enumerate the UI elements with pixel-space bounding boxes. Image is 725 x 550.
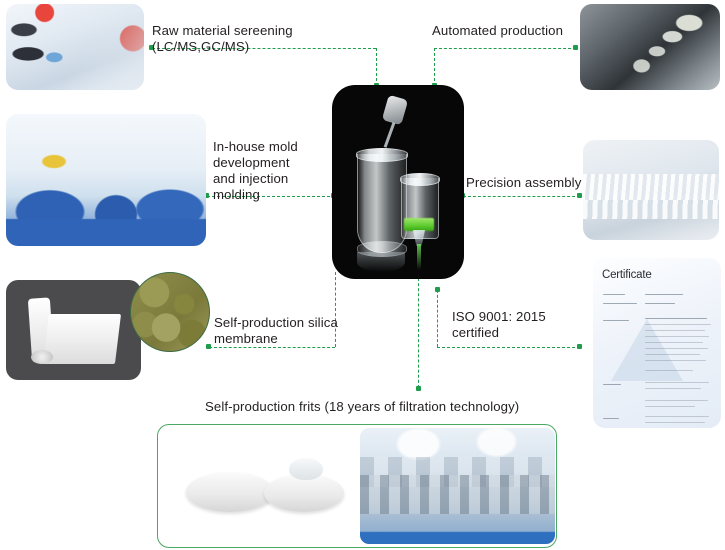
silica-membrane-band <box>404 218 434 231</box>
silica-sheet-shape <box>43 314 121 364</box>
panel-self-production-frits <box>157 424 557 548</box>
infographic-canvas: Certificate <box>0 0 725 550</box>
label-raw-material-screening: Raw material sereening (LC/MS,GC/MS) <box>152 23 392 55</box>
photo-iso-certificate: Certificate <box>593 258 721 428</box>
frit-disc-left <box>186 472 274 512</box>
nozzle-glow <box>417 244 421 270</box>
photo-automated-production <box>580 4 720 90</box>
reflection-collection-tube <box>357 252 405 272</box>
photo-raw-material-screening <box>6 4 144 90</box>
photo-frits <box>161 428 357 544</box>
label-precision-assembly: Precision assembly <box>466 175 596 191</box>
silica-microscope-inset <box>130 272 210 352</box>
photo-precision-assembly <box>583 140 719 240</box>
photo-mold-development <box>6 114 206 246</box>
certificate-sheet: Certificate <box>593 258 721 428</box>
certificate-watermark <box>611 319 683 381</box>
photo-frit-factory <box>360 428 555 544</box>
label-automated-production: Automated production <box>432 23 592 39</box>
label-self-production-frits: Self-production frits (18 years of filtr… <box>205 399 535 415</box>
photo-silica-membrane <box>6 280 141 380</box>
label-mold-development: In-house mold development and injection … <box>213 139 337 203</box>
label-iso-certified: ISO 9001: 2015 certified <box>452 309 572 341</box>
water-droplet <box>289 458 323 480</box>
label-silica-membrane: Self-production silica membrane <box>214 315 364 347</box>
certificate-heading: Certificate <box>602 269 652 281</box>
photo-center-spin-column <box>333 86 463 278</box>
silica-roll-core <box>31 350 53 364</box>
